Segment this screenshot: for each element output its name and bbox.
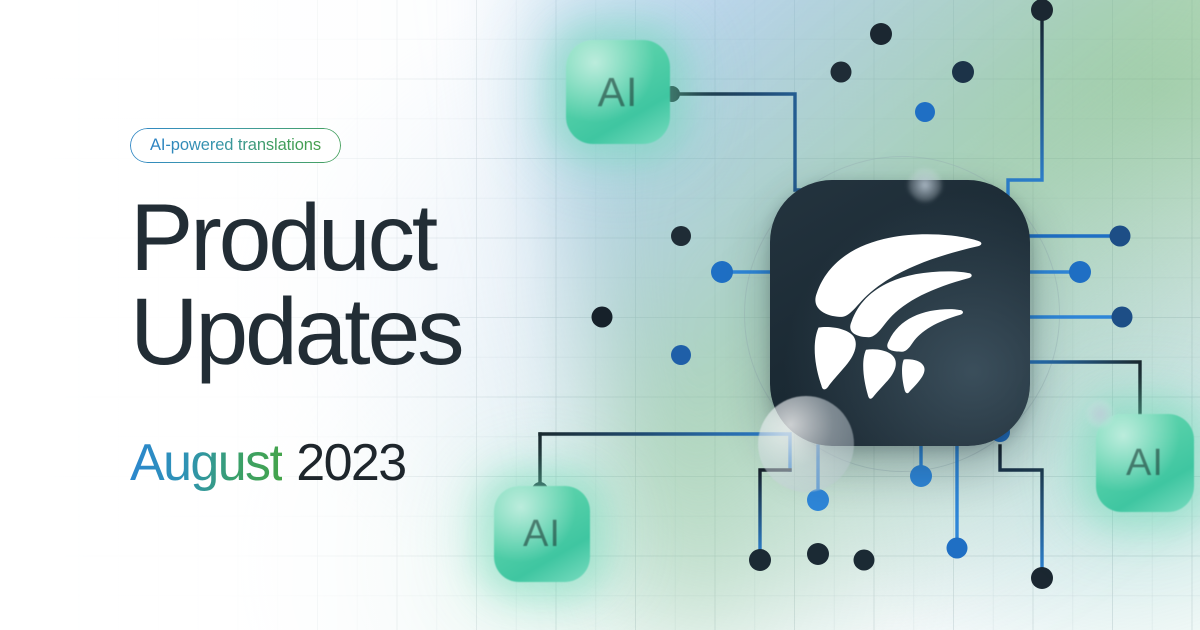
hero-banner: AI AI AI AI-powered translations Product…	[0, 0, 1200, 630]
page-title-line-1: Product	[130, 185, 435, 291]
status-badge-label: AI-powered translations	[150, 136, 321, 155]
date-year: 2023	[296, 434, 405, 492]
ai-chip-bottom-right: AI	[1096, 414, 1194, 512]
ai-chip-label: AI	[598, 69, 639, 116]
page-title-line-2: Updates	[130, 285, 600, 379]
ai-chip-bottom-left: AI	[494, 486, 590, 582]
hero-copy: AI-powered translations Product Updates …	[130, 128, 600, 493]
ai-chip-label: AI	[523, 513, 561, 556]
page-title: Product Updates	[130, 191, 600, 379]
date-line: August2023	[130, 433, 600, 493]
status-badge: AI-powered translations	[130, 128, 341, 163]
logo-glass-orb	[758, 396, 854, 492]
ai-chip-label: AI	[1126, 442, 1164, 485]
date-month: August	[130, 434, 282, 492]
